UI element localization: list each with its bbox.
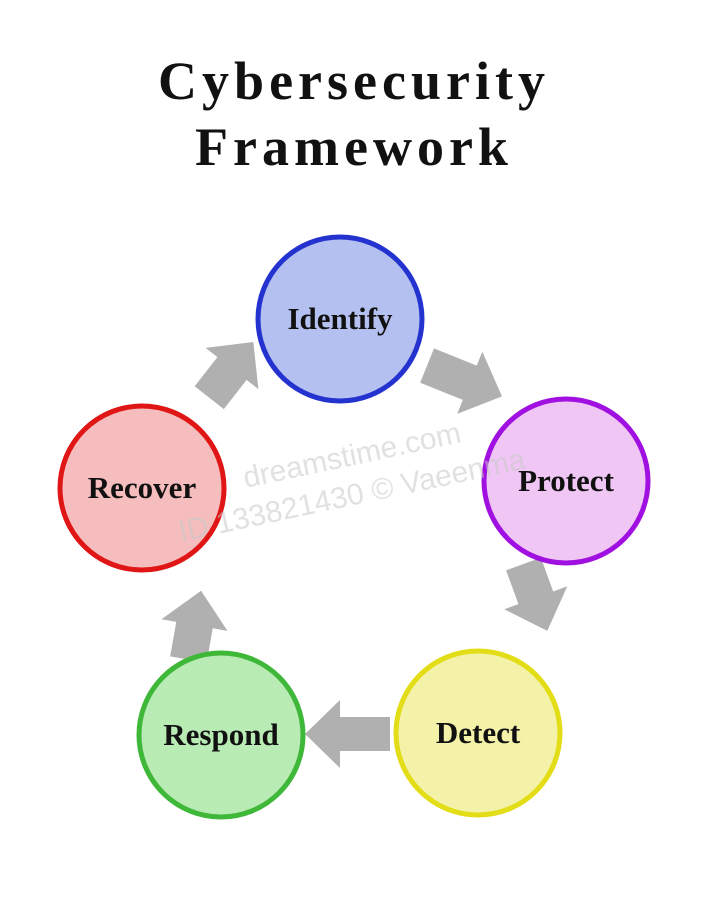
arrow-identify-to-protect bbox=[415, 334, 515, 426]
arrow-detect-to-respond bbox=[305, 700, 390, 768]
node-protect[interactable]: Protect bbox=[484, 399, 648, 563]
node-respond-label: Respond bbox=[163, 717, 278, 752]
cycle-diagram: Identify Protect Detect Respond Recover bbox=[0, 0, 708, 900]
node-respond[interactable]: Respond bbox=[139, 653, 303, 817]
node-detect-label: Detect bbox=[436, 715, 521, 750]
node-recover[interactable]: Recover bbox=[60, 406, 224, 570]
node-detect[interactable]: Detect bbox=[396, 651, 560, 815]
node-identify[interactable]: Identify bbox=[258, 237, 422, 401]
arrow-protect-to-detect bbox=[492, 552, 579, 642]
node-recover-label: Recover bbox=[88, 470, 197, 505]
node-protect-label: Protect bbox=[518, 463, 614, 498]
diagram-page: Cybersecurity Framework Identify Protect bbox=[0, 0, 708, 900]
node-identify-label: Identify bbox=[287, 301, 393, 336]
